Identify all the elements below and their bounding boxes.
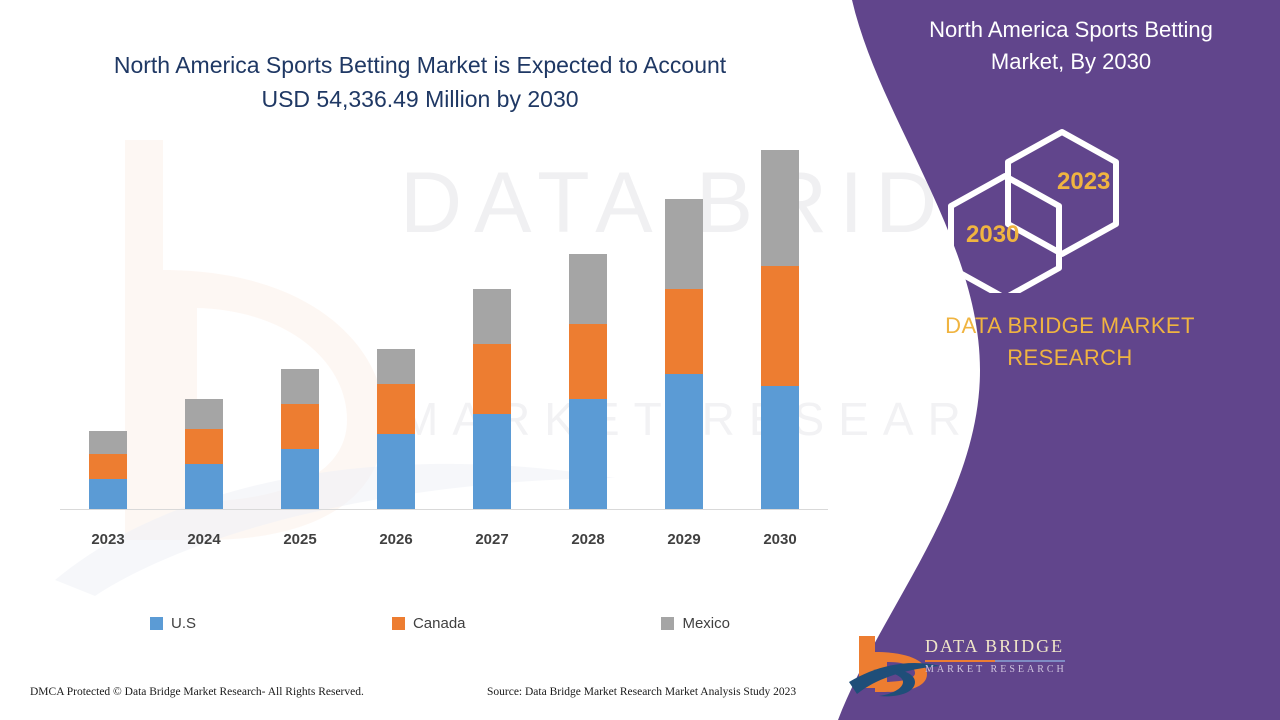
- stacked-bar: [761, 150, 799, 509]
- legend-item[interactable]: Mexico: [661, 615, 730, 632]
- panel-title: North America Sports Betting Market, By …: [878, 14, 1264, 78]
- bar-slot: [252, 150, 348, 509]
- stacked-bar: [89, 431, 127, 509]
- legend-swatch-icon: [661, 617, 674, 630]
- chart-headline: North America Sports Betting Market is E…: [60, 48, 780, 116]
- stacked-bar-chart: 20232024202520262027202820292030: [48, 150, 838, 562]
- legend-label: Canada: [413, 615, 466, 632]
- x-axis-label: 2027: [444, 531, 540, 548]
- footer-dmca-text: DMCA Protected © Data Bridge Market Rese…: [30, 686, 364, 698]
- panel-title-line-1: North America Sports Betting: [878, 14, 1264, 46]
- bar-slot: [540, 150, 636, 509]
- bar-segment-us: [185, 464, 223, 509]
- x-axis-label: 2030: [732, 531, 828, 548]
- bar-slot: [156, 150, 252, 509]
- bar-segment-us: [281, 449, 319, 509]
- x-axis-label: 2025: [252, 531, 348, 548]
- logo-divider: [925, 660, 1065, 662]
- chart-legend: U.SCanadaMexico: [150, 615, 730, 632]
- hexagon-2023-label: 2023: [1057, 168, 1110, 196]
- bar-slot: [732, 150, 828, 509]
- legend-swatch-icon: [150, 617, 163, 630]
- bar-segment-can: [473, 344, 511, 414]
- bar-segment-can: [665, 289, 703, 374]
- bar-segment-us: [761, 386, 799, 509]
- bar-segment-mex: [761, 150, 799, 266]
- bar-slot: [636, 150, 732, 509]
- legend-item[interactable]: U.S: [150, 615, 196, 632]
- panel-title-line-2: Market, By 2030: [878, 46, 1264, 78]
- bar-slot: [444, 150, 540, 509]
- stacked-bar: [185, 399, 223, 509]
- x-axis-label: 2029: [636, 531, 732, 548]
- logo-text-main: DATA BRIDGE: [925, 636, 1064, 657]
- bar-segment-us: [377, 434, 415, 509]
- x-axis-label: 2028: [540, 531, 636, 548]
- legend-item[interactable]: Canada: [392, 615, 466, 632]
- bar-segment-mex: [473, 289, 511, 344]
- stacked-bar: [569, 254, 607, 509]
- bar-segment-can: [377, 384, 415, 434]
- x-axis-label: 2023: [60, 531, 156, 548]
- bar-segment-us: [89, 479, 127, 509]
- bar-segment-can: [761, 266, 799, 386]
- bar-segment-mex: [377, 349, 415, 384]
- bar-segment-can: [281, 404, 319, 449]
- panel-brand-line-2: RESEARCH: [920, 342, 1220, 374]
- headline-line-1: North America Sports Betting Market is E…: [60, 48, 780, 82]
- bar-segment-can: [185, 429, 223, 464]
- bar-segment-mex: [569, 254, 607, 324]
- bar-segment-us: [473, 414, 511, 509]
- bar-segment-mex: [185, 399, 223, 429]
- bar-segment-mex: [89, 431, 127, 454]
- headline-line-2: USD 54,336.49 Million by 2030: [60, 82, 780, 116]
- infographic-canvas: DATA BRIDGE MARKET RESEARCH North Americ…: [0, 0, 1280, 720]
- bar-segment-can: [569, 324, 607, 399]
- panel-brand-line-1: DATA BRIDGE MARKET: [920, 310, 1220, 342]
- stacked-bar: [281, 369, 319, 509]
- bar-group: [60, 150, 828, 509]
- bar-slot: [60, 150, 156, 509]
- hexagon-pair: [820, 128, 1280, 293]
- x-axis-label: 2026: [348, 531, 444, 548]
- x-axis-label: 2024: [156, 531, 252, 548]
- x-axis-labels: 20232024202520262027202820292030: [60, 531, 828, 548]
- hexagon-2030-label: 2030: [966, 221, 1019, 249]
- bar-segment-can: [89, 454, 127, 479]
- x-axis-line: [60, 509, 828, 510]
- footer: DMCA Protected © Data Bridge Market Rese…: [0, 686, 845, 706]
- stacked-bar: [665, 199, 703, 509]
- stacked-bar: [473, 289, 511, 509]
- brand-panel: North America Sports Betting Market, By …: [820, 0, 1280, 720]
- legend-swatch-icon: [392, 617, 405, 630]
- footer-source-text: Source: Data Bridge Market Research Mark…: [487, 686, 796, 698]
- bar-segment-us: [569, 399, 607, 509]
- bar-segment-mex: [665, 199, 703, 289]
- legend-label: U.S: [171, 615, 196, 632]
- stacked-bar: [377, 349, 415, 509]
- bar-segment-us: [665, 374, 703, 509]
- legend-label: Mexico: [682, 615, 730, 632]
- logo-text-sub: MARKET RESEARCH: [925, 664, 1067, 675]
- bar-slot: [348, 150, 444, 509]
- panel-brand-name: DATA BRIDGE MARKET RESEARCH: [920, 310, 1220, 374]
- bar-segment-mex: [281, 369, 319, 404]
